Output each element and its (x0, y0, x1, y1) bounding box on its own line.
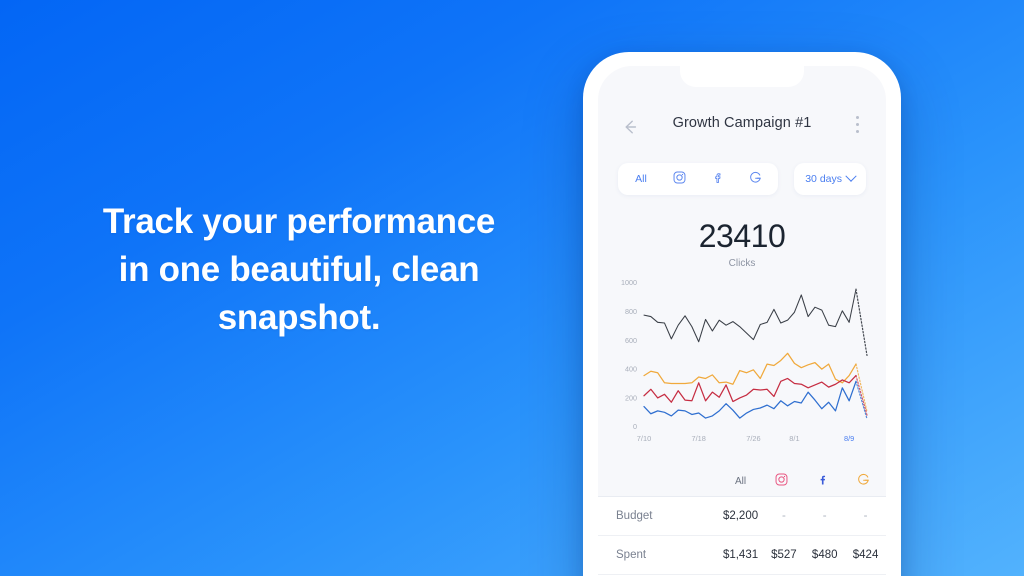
metric-label: Clicks (598, 258, 886, 269)
row-label: Spent (598, 549, 718, 561)
headline-line-3: snapshot. (56, 294, 542, 342)
facebook-icon (711, 171, 724, 187)
platform-header-facebook[interactable] (802, 466, 843, 496)
svg-text:600: 600 (625, 336, 637, 345)
svg-text:400: 400 (625, 365, 637, 374)
svg-text:8/1: 8/1 (789, 434, 799, 443)
platform-header-instagram[interactable] (761, 466, 802, 496)
platform-header-google[interactable] (843, 466, 884, 496)
page-title: Track your performance in one beautiful,… (56, 198, 542, 342)
cell-all: $1,431 (718, 549, 764, 561)
headline-line-2: in one beautiful, clean (56, 246, 542, 294)
google-icon (857, 473, 870, 489)
svg-text:8/9: 8/9 (844, 434, 854, 443)
headline-line-1: Track your performance (56, 198, 542, 246)
date-range-label: 30 days (805, 173, 842, 185)
metrics-table: Budget $2,200 - - - Spent $1,431 $527 $4… (598, 496, 886, 576)
svg-text:7/10: 7/10 (637, 434, 651, 443)
filter-chip-all[interactable]: All (622, 163, 660, 195)
date-range-selector[interactable]: 30 days (794, 163, 866, 195)
cell-facebook: - (804, 510, 845, 522)
filter-chip-google[interactable] (736, 163, 774, 195)
chevron-down-icon (845, 171, 856, 182)
promo-slide: Track your performance in one beautiful,… (0, 0, 1024, 576)
svg-text:7/26: 7/26 (746, 434, 760, 443)
filter-row: All (598, 163, 886, 195)
svg-text:800: 800 (625, 307, 637, 316)
cell-instagram: - (763, 510, 804, 522)
google-icon (749, 171, 762, 187)
table-row: Budget $2,200 - - - (598, 496, 886, 535)
table-row: Spent $1,431 $527 $480 $424 (598, 535, 886, 574)
instagram-icon (775, 473, 788, 489)
cell-instagram: $527 (763, 549, 804, 561)
more-options-icon[interactable] (847, 116, 867, 138)
phone-screen: Growth Campaign #1 All (598, 66, 886, 576)
metric-value: 23410 (598, 218, 886, 255)
platform-header-all[interactable]: All (720, 466, 761, 496)
clicks-line-chart: 020040060080010007/107/187/268/18/9 (598, 272, 886, 452)
svg-text:1000: 1000 (621, 278, 637, 287)
row-label: Budget (598, 510, 718, 522)
phone-mockup: Growth Campaign #1 All (583, 52, 901, 576)
kebab-dot (856, 116, 859, 119)
filter-chip-instagram[interactable] (660, 163, 698, 195)
cell-facebook: $480 (804, 549, 845, 561)
cell-all: $2,200 (718, 510, 764, 522)
cell-google: $424 (845, 549, 886, 561)
svg-text:7/18: 7/18 (692, 434, 706, 443)
platform-column-header-row: All (598, 466, 886, 496)
filter-chip-facebook[interactable] (698, 163, 736, 195)
svg-text:0: 0 (633, 422, 637, 431)
kebab-dot (856, 130, 859, 133)
facebook-icon (816, 473, 829, 489)
app-bar: Growth Campaign #1 (598, 112, 886, 146)
kebab-dot (856, 123, 859, 126)
instagram-icon (673, 171, 686, 187)
platform-filter-group: All (618, 163, 778, 195)
svg-text:200: 200 (625, 393, 637, 402)
cell-google: - (845, 510, 886, 522)
campaign-title: Growth Campaign #1 (598, 115, 886, 131)
phone-notch (680, 66, 804, 87)
